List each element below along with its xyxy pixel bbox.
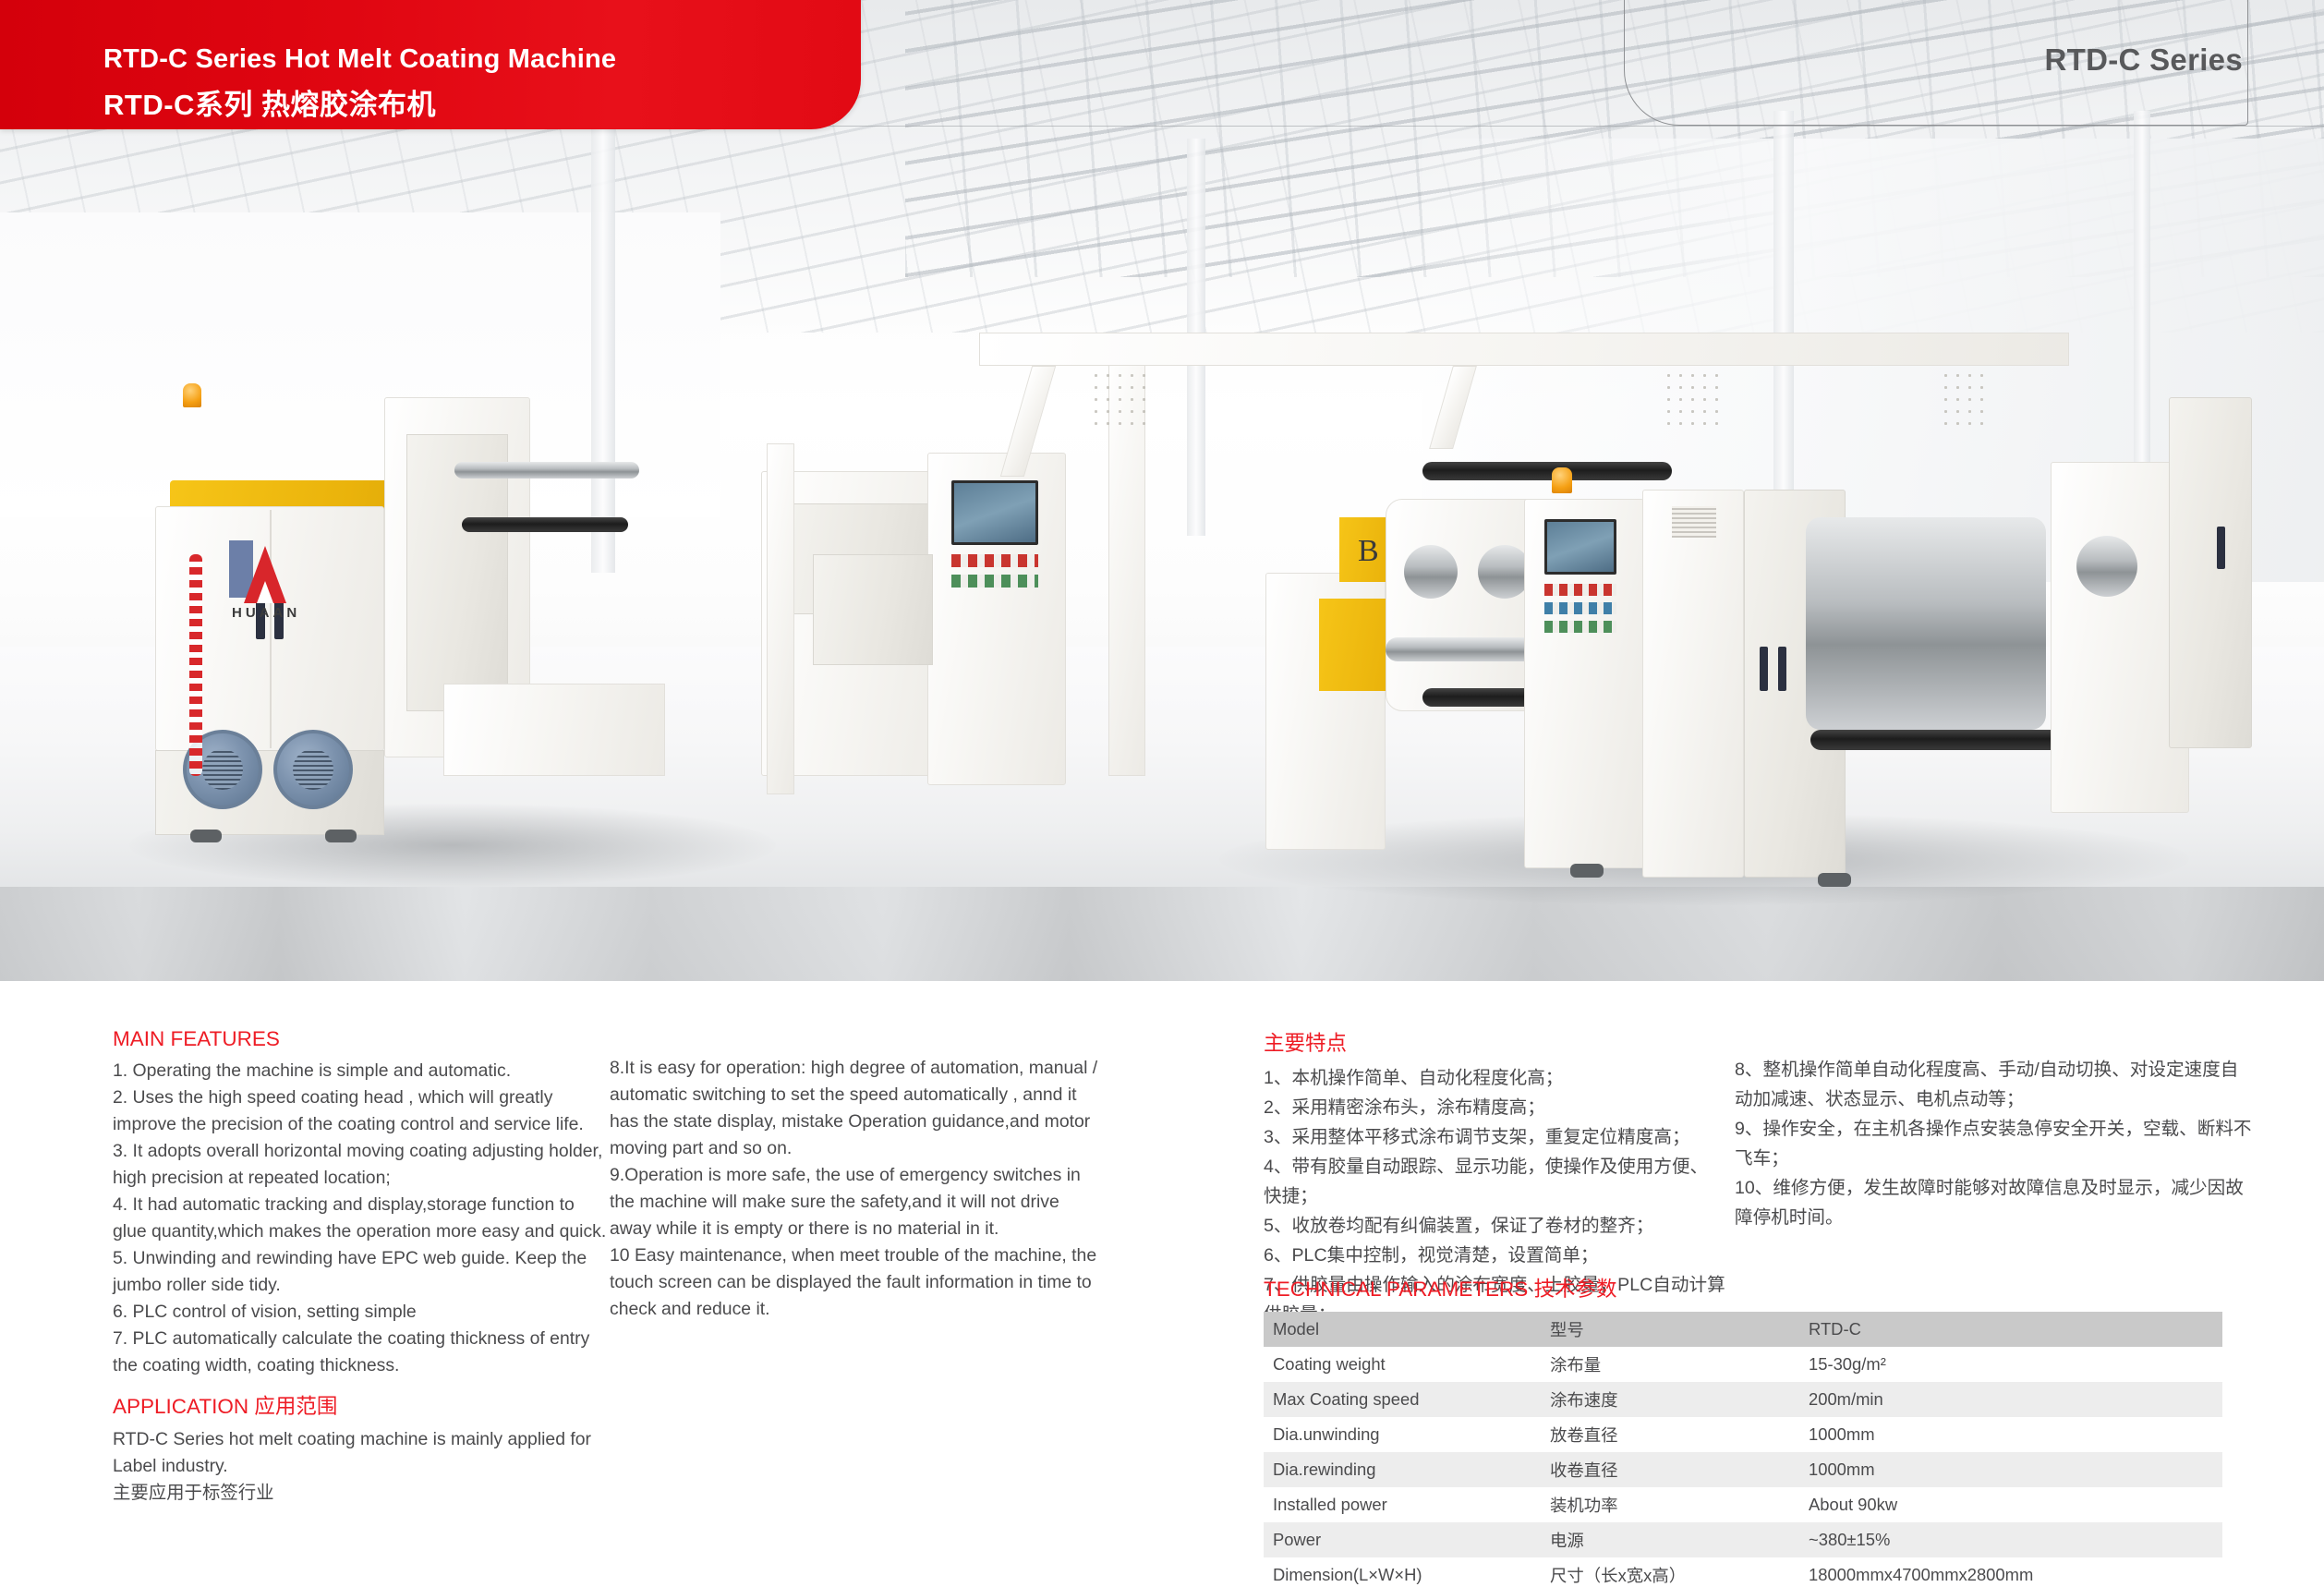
web-bed-left	[443, 684, 665, 776]
spec-table-row: Max Coating speed涂布速度200m/min	[1264, 1382, 2222, 1417]
application-section: APPLICATION 应用范围 RTD-C Series hot melt c…	[113, 1390, 630, 1507]
main-features-cn-column-2: 8、整机操作简单自动化程度高、手动/自动切换、对设定速度自动加减速、状态显示、电…	[1735, 1055, 2252, 1232]
foot-pad-2	[325, 830, 357, 842]
rewind-cabinet-handle-a	[1760, 647, 1768, 691]
rewind-touchscreen	[1544, 519, 1616, 575]
spec-cell-en: Coating weight	[1264, 1347, 1541, 1382]
feature-item: 5. Unwinding and rewinding have EPC web …	[113, 1245, 611, 1299]
red-coil-cable	[189, 554, 202, 776]
spec-cell-value: 200m/min	[1799, 1382, 2222, 1417]
spec-cell-cn: 型号	[1541, 1312, 1799, 1347]
hmi-button-row-2	[951, 575, 1038, 588]
rewind-cabinet-vent	[1672, 506, 1716, 538]
huaan-logo: HUAAN	[229, 540, 303, 629]
unwind-chuck-right	[2076, 536, 2137, 597]
spec-cell-cn: 涂布速度	[1541, 1382, 1799, 1417]
rewind-button-row-2	[1544, 602, 1616, 614]
main-features-cn-heading: 主要特点	[1264, 1027, 1725, 1057]
spec-cell-value: RTD-C	[1799, 1312, 2222, 1347]
end-cabinet-handle	[2217, 527, 2225, 569]
feature-item-cn: 2、采用精密涂布头，涂布精度高；	[1264, 1093, 1725, 1122]
spec-cell-cn: 装机功率	[1541, 1487, 1799, 1522]
foot-pad-3	[1570, 864, 1604, 878]
application-text-en: RTD-C Series hot melt coating machine is…	[113, 1426, 630, 1480]
foot-pad-1	[190, 830, 222, 842]
spec-cell-en: Dia.unwinding	[1264, 1417, 1541, 1452]
feature-item-cn: 4、带有胶量自动跟踪、显示功能，使操作及使用方便、快捷；	[1264, 1152, 1725, 1211]
feature-item-cn: 3、采用整体平移式涂布调节支架，重复定位精度高；	[1264, 1122, 1725, 1152]
feature-item-cn: 1、本机操作简单、自动化程度化高；	[1264, 1063, 1725, 1093]
end-cabinet-right	[2169, 397, 2252, 748]
application-text-cn: 主要应用于标签行业	[113, 1480, 630, 1507]
huaan-logo-text: HUAAN	[232, 605, 300, 621]
spec-table-row: Power电源~380±15%	[1264, 1522, 2222, 1557]
unwind-frame-center	[767, 443, 794, 794]
spec-cell-value: 1000mm	[1799, 1452, 2222, 1487]
spec-cell-cn: 涂布量	[1541, 1347, 1799, 1382]
feature-item-cn: 8、整机操作简单自动化程度高、手动/自动切换、对设定速度自动加减速、状态显示、电…	[1735, 1055, 2252, 1114]
feature-item-cn: 6、PLC集中控制，视觉清楚，设置简单；	[1264, 1241, 1725, 1270]
gantry-perforation-2	[1663, 369, 1720, 434]
title-banner: RTD-C Series Hot Melt Coating Machine RT…	[0, 0, 861, 129]
spec-cell-value: 15-30g/m²	[1799, 1347, 2222, 1382]
jumbo-roll	[1806, 517, 2046, 730]
feature-item: 9.Operation is more safe, the use of eme…	[610, 1162, 1104, 1242]
logo-notch-shape	[257, 581, 273, 603]
warehouse-pillar-3	[1773, 111, 1794, 527]
spec-cell-value: About 90kw	[1799, 1487, 2222, 1522]
spec-table-row: Dia.rewinding收卷直径1000mm	[1264, 1452, 2222, 1487]
rewind-button-row-1	[1544, 584, 1616, 596]
product-photo: HUAAN B	[0, 0, 2324, 981]
feature-item: 4. It had automatic tracking and display…	[113, 1192, 611, 1245]
spec-cell-en: Model	[1264, 1312, 1541, 1347]
roller-left-1	[454, 462, 639, 479]
spec-cell-value: 18000mmx4700mmx2800mm	[1799, 1557, 2222, 1587]
spec-table-row: Coating weight涂布量15-30g/m²	[1264, 1347, 2222, 1382]
feature-item: 6. PLC control of vision, setting simple	[113, 1299, 611, 1326]
rewind-chuck-1	[1404, 545, 1458, 599]
foot-pad-4	[1818, 873, 1851, 887]
feature-item: 8.It is easy for operation: high degree …	[610, 1055, 1104, 1162]
drive-motor-2	[273, 730, 353, 809]
cable-chain	[813, 554, 933, 665]
feature-item-cn: 9、操作安全，在主机各操作点安装急停安全开关，空载、断料不飞车；	[1735, 1114, 2252, 1173]
rewind-button-row-3	[1544, 621, 1616, 633]
hmi-touchscreen	[951, 480, 1038, 545]
rewind-cabinet-handle-b	[1778, 647, 1786, 691]
gantry-beam	[979, 333, 2069, 366]
floor-reflection	[0, 887, 2324, 981]
technical-parameters-section: TECHNICAL PARAMETERS 技术参数 Model型号RTD-CCo…	[1264, 1273, 2224, 1587]
warehouse-pillar-1	[591, 129, 615, 573]
roller-left-2	[462, 517, 628, 532]
hmi-button-row-1	[951, 554, 1038, 567]
warning-beacon-left	[183, 383, 201, 407]
spec-table-row: Dimension(L×W×H)尺寸（长x宽x高）18000mmx4700mmx…	[1264, 1557, 2222, 1587]
spec-cell-en: Dimension(L×W×H)	[1264, 1557, 1541, 1587]
spec-cell-cn: 收卷直径	[1541, 1452, 1799, 1487]
technical-parameters-heading: TECHNICAL PARAMETERS 技术参数	[1264, 1273, 2224, 1302]
banner-title-cn: RTD-C系列 热熔胶涂布机	[103, 81, 436, 123]
spec-cell-en: Installed power	[1264, 1487, 1541, 1522]
feature-item-cn: 10、维修方便，发生故障时能够对故障信息及时显示，减少因故障停机时间。	[1735, 1173, 2252, 1232]
specifications-table: Model型号RTD-CCoating weight涂布量15-30g/m²Ma…	[1264, 1312, 2222, 1587]
roll-b-label: B	[1358, 534, 1379, 569]
rewind-cabinet-a	[1642, 490, 1744, 878]
gantry-perforation-1	[1090, 369, 1147, 434]
feature-item-cn: 5、收放卷均配有纠偏装置，保证了卷材的整齐；	[1264, 1211, 1725, 1241]
warehouse-pillar-4	[2134, 111, 2150, 508]
spec-cell-value: ~380±15%	[1799, 1522, 2222, 1557]
feature-item: 1. Operating the machine is simple and a…	[113, 1058, 611, 1084]
banner-title-en: RTD-C Series Hot Melt Coating Machine	[103, 44, 616, 75]
series-label: RTD-C Series	[2045, 42, 2244, 78]
nip-roller-right	[1810, 730, 2088, 750]
main-features-column-1: MAIN FEATURES 1. Operating the machine i…	[113, 1027, 611, 1379]
spec-table-row: Installed power装机功率About 90kw	[1264, 1487, 2222, 1522]
rewind-roller-top	[1422, 462, 1672, 480]
spec-cell-cn: 放卷直径	[1541, 1417, 1799, 1452]
brochure-page: HUAAN B	[0, 0, 2324, 1587]
spec-cell-cn: 尺寸（长x宽x高）	[1541, 1557, 1799, 1587]
main-features-heading: MAIN FEATURES	[113, 1027, 611, 1051]
spec-table-header-row: Model型号RTD-C	[1264, 1312, 2222, 1347]
spec-cell-cn: 电源	[1541, 1522, 1799, 1557]
spec-cell-en: Dia.rewinding	[1264, 1452, 1541, 1487]
feature-item: 7. PLC automatically calculate the coati…	[113, 1326, 611, 1379]
warning-beacon-right	[1552, 467, 1572, 493]
feature-item: 3. It adopts overall horizontal moving c…	[113, 1138, 611, 1192]
spec-cell-en: Power	[1264, 1522, 1541, 1557]
gantry-perforation-3	[1940, 369, 1991, 430]
spec-cell-value: 1000mm	[1799, 1417, 2222, 1452]
feature-item: 10 Easy maintenance, when meet trouble o…	[610, 1242, 1104, 1323]
spec-cell-en: Max Coating speed	[1264, 1382, 1541, 1417]
application-heading: APPLICATION 应用范围	[113, 1390, 630, 1420]
main-features-column-2: 8.It is easy for operation: high degree …	[610, 1055, 1104, 1323]
spec-table-row: Dia.unwinding放卷直径1000mm	[1264, 1417, 2222, 1452]
feature-item: 2. Uses the high speed coating head , wh…	[113, 1084, 611, 1138]
